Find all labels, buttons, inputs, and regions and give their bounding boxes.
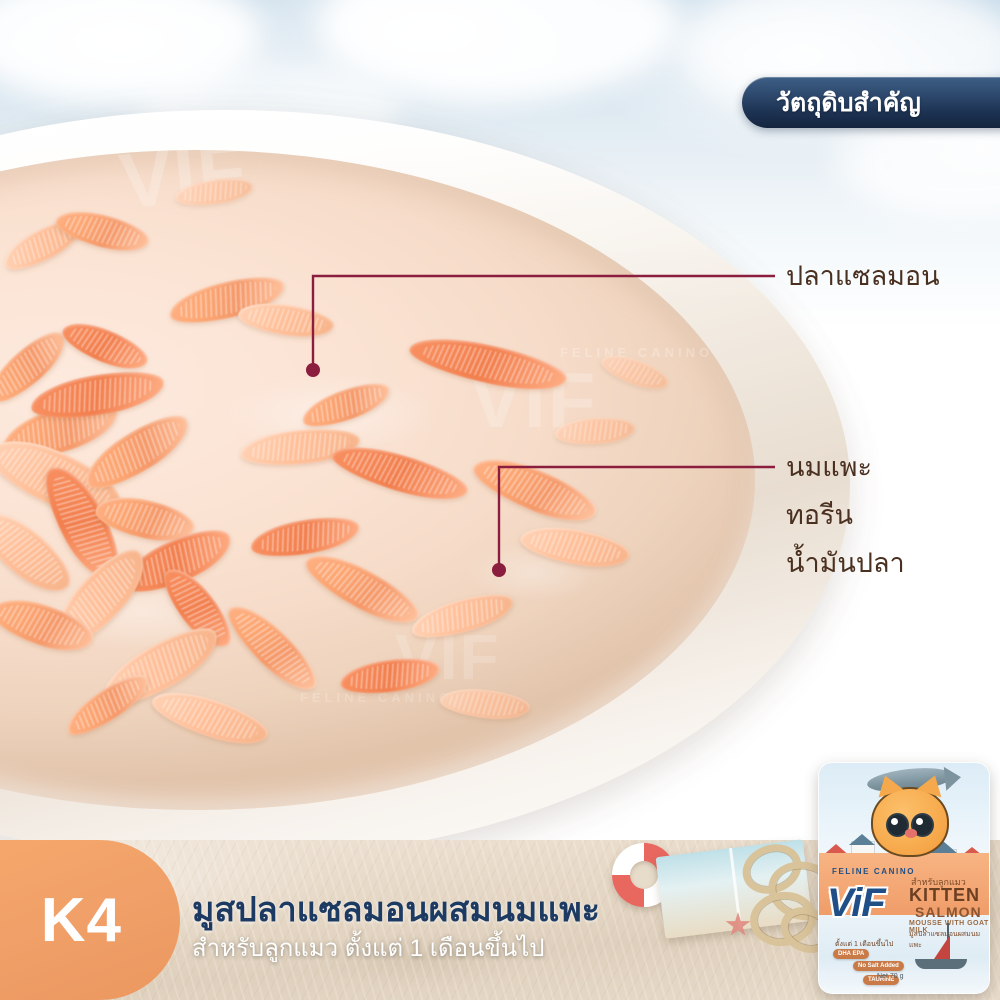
boat-hull	[915, 959, 967, 969]
package-badge-nosalt: No Salt Added	[853, 961, 904, 971]
callout-label-taurine: ทอรีน	[786, 493, 853, 537]
bowl-with-mousse: VIF VIF FELINE CANINO VIF FELINE CANINO	[0, 0, 1000, 860]
product-package[interactable]: FELINE CANINO ViF สำหรับลูกแมว KITTEN SA…	[818, 762, 990, 994]
watermark-brand: VIF	[116, 124, 252, 228]
roof-shape	[849, 834, 875, 845]
callout-label-goatmilk: นมแพะ	[786, 445, 872, 489]
watermark-tagline: FELINE CANINO	[560, 345, 713, 360]
product-infographic: VIF VIF FELINE CANINO VIF FELINE CANINO	[0, 0, 1000, 1000]
variant-code-pill: K4	[0, 840, 180, 1000]
package-badge-dha: DHA EPA	[833, 949, 869, 959]
product-subtitle: สำหรับลูกแมว ตั้งแต่ 1 เดือนขึ้นไป	[192, 928, 545, 967]
cat-nose-icon	[905, 829, 917, 838]
callout-label-fishoil: น้ำมันปลา	[786, 541, 905, 585]
package-brand-tagline: FELINE CANINO	[832, 867, 915, 876]
package-kitten-label: KITTEN	[909, 885, 980, 906]
key-ingredients-badge: วัตถุดิบสำคัญ	[742, 77, 1000, 128]
variant-code-label: K4	[41, 885, 180, 956]
cat-mascot-icon	[871, 787, 949, 857]
package-net-weight: Net 70 g	[877, 973, 903, 980]
fish-tail-icon	[944, 765, 962, 791]
callout-label-salmon: ปลาแซลมอน	[786, 254, 940, 298]
package-salmon-label: SALMON	[915, 904, 982, 920]
key-ingredients-badge-label: วัตถุดิบสำคัญ	[742, 83, 921, 123]
package-brand-logo: ViF	[827, 881, 885, 926]
